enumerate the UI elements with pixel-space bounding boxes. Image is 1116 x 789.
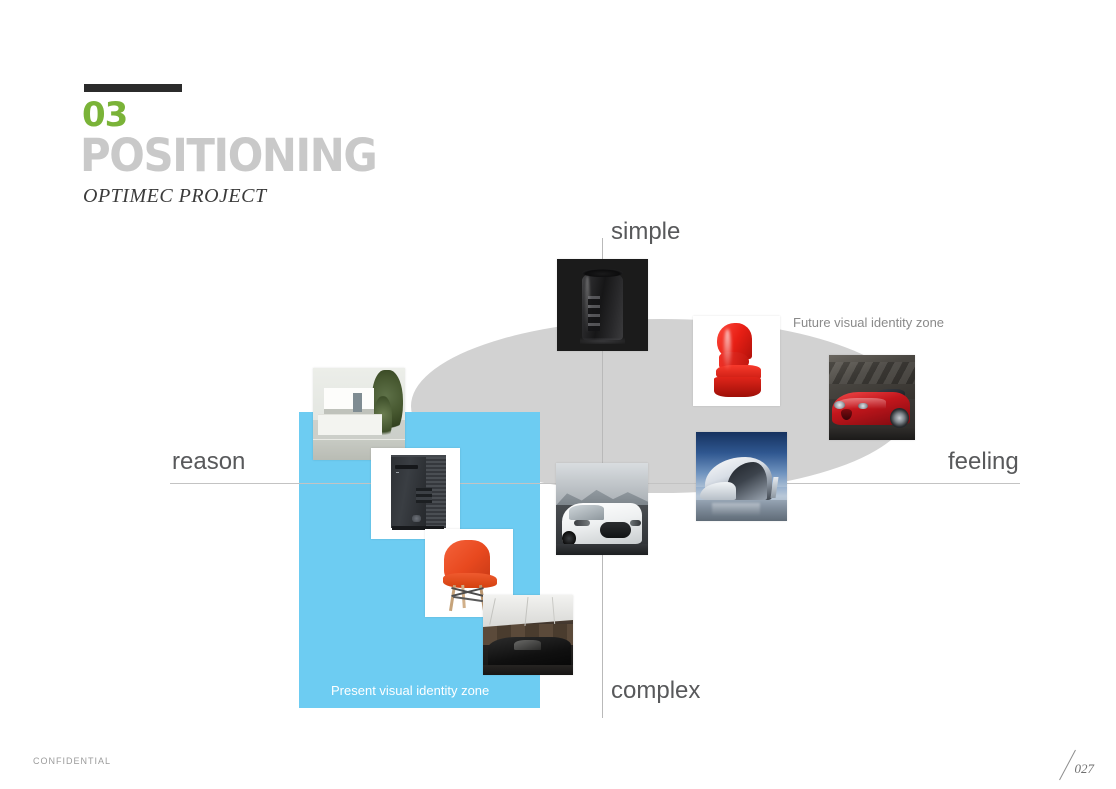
image-tile-mac-pro: [557, 259, 648, 351]
axis-label-feeling: feeling: [948, 450, 1019, 474]
slide-canvas: 03 POSITIONING OPTIMEC PROJECT simple co…: [0, 0, 1116, 789]
image-tile-house: [313, 368, 405, 460]
image-tile-alfa-romeo: [829, 355, 915, 440]
house-photo: [313, 368, 405, 460]
section-subtitle: OPTIMEC PROJECT: [83, 186, 267, 206]
mac-pro-photo: [557, 259, 648, 351]
image-tile-panton-chair: [693, 316, 780, 406]
desktop-pc-photo: [371, 448, 460, 539]
future-zone-caption: Future visual identity zone: [793, 316, 944, 329]
axis-label-complex: complex: [611, 679, 700, 703]
page-title: POSITIONING: [80, 133, 376, 178]
panton-chair-photo: [693, 316, 780, 406]
audi-car-photo: [556, 463, 648, 555]
image-tile-desktop-pc: [371, 448, 460, 539]
image-tile-audi-car: [556, 463, 648, 555]
image-tile-covered-car: [483, 595, 573, 675]
alfa-romeo-photo: [829, 355, 915, 440]
axis-label-reason: reason: [172, 450, 245, 474]
present-zone-caption: Present visual identity zone: [331, 684, 489, 697]
header-rule-bar: [84, 84, 182, 92]
curved-building-photo: [696, 432, 787, 521]
image-tile-curved-building: [696, 432, 787, 521]
section-number: 03: [82, 98, 127, 132]
axis-label-simple: simple: [611, 220, 680, 244]
footer-confidential-label: CONFIDENTIAL: [33, 757, 111, 766]
covered-car-photo: [483, 595, 573, 675]
footer-slash-divider: [1059, 750, 1076, 780]
footer-page-number: 027: [1075, 762, 1095, 775]
